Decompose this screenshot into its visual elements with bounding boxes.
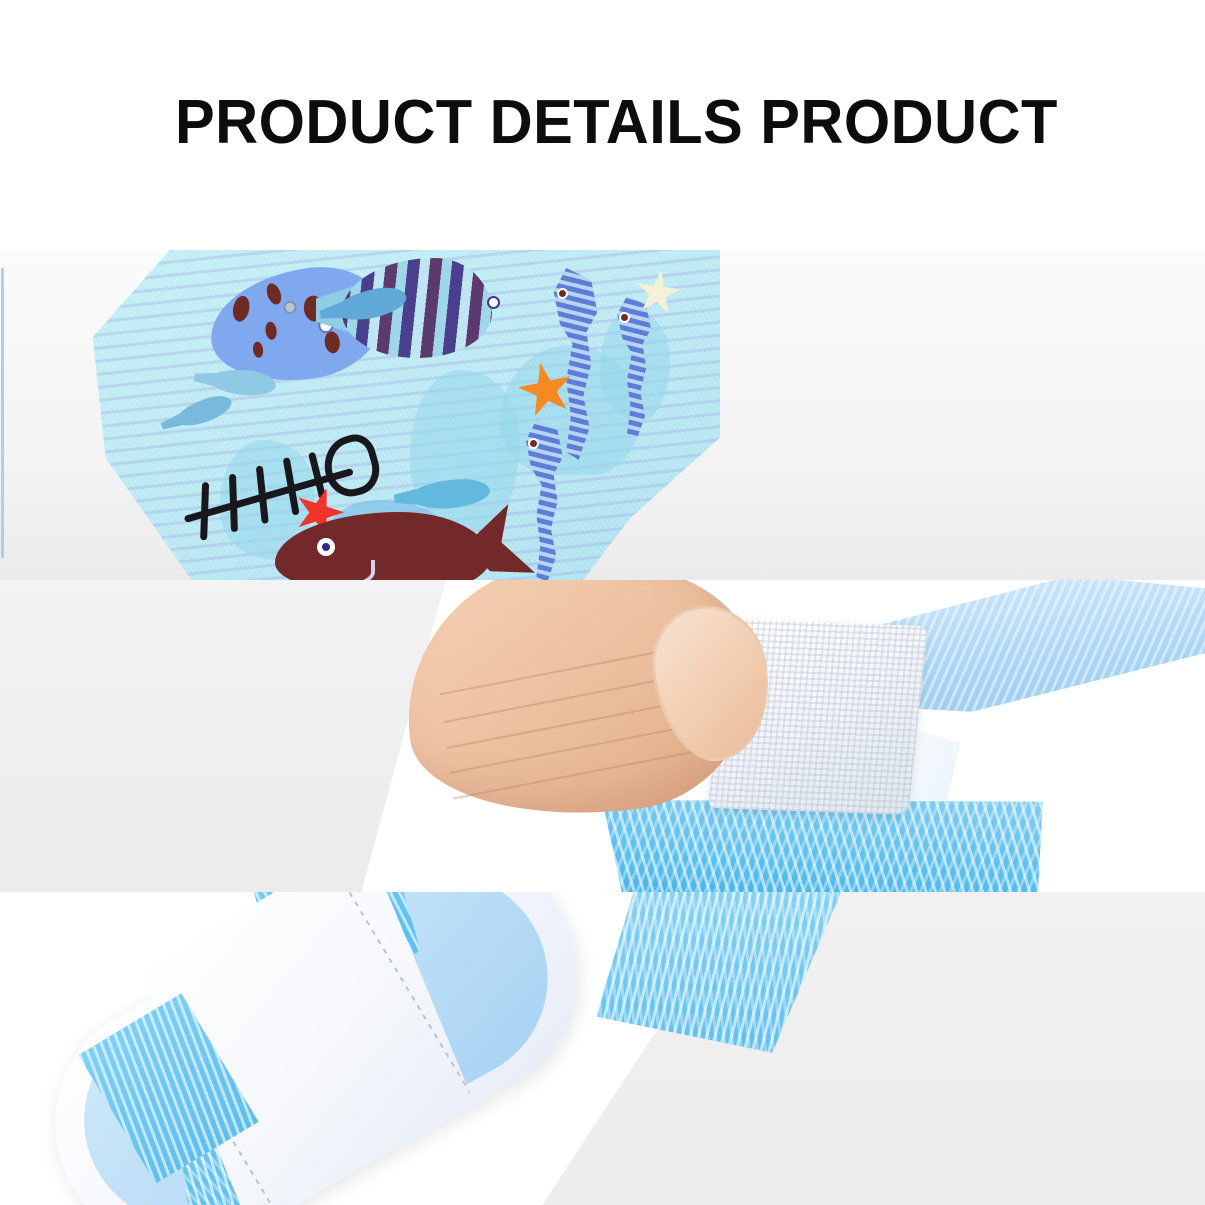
angelfish-eye xyxy=(487,296,500,309)
photo-thumb-peeling-velcro-strap xyxy=(0,580,1205,892)
small-fish-motif xyxy=(173,391,235,432)
photo-printed-sea-creature-fabric xyxy=(0,250,1205,580)
left-edge-accent-line xyxy=(1,268,4,558)
page-title: PRODUCT DETAILS PRODUCT xyxy=(175,92,1058,154)
photo-white-band-with-blue-webbing xyxy=(0,892,1205,1205)
section-1: 1 THE STRUCTURE xyxy=(0,250,1205,580)
section-2: 2 THE STRUCTURE xyxy=(0,580,1205,892)
seahorse-motif xyxy=(603,296,663,446)
product-details-infographic: PRODUCT DETAILS PRODUCT xyxy=(0,0,1205,1205)
section-3: 3 THE STRUCTURE xyxy=(0,892,1205,1205)
header: PRODUCT DETAILS PRODUCT xyxy=(0,0,1205,250)
whale-motif xyxy=(275,512,535,580)
